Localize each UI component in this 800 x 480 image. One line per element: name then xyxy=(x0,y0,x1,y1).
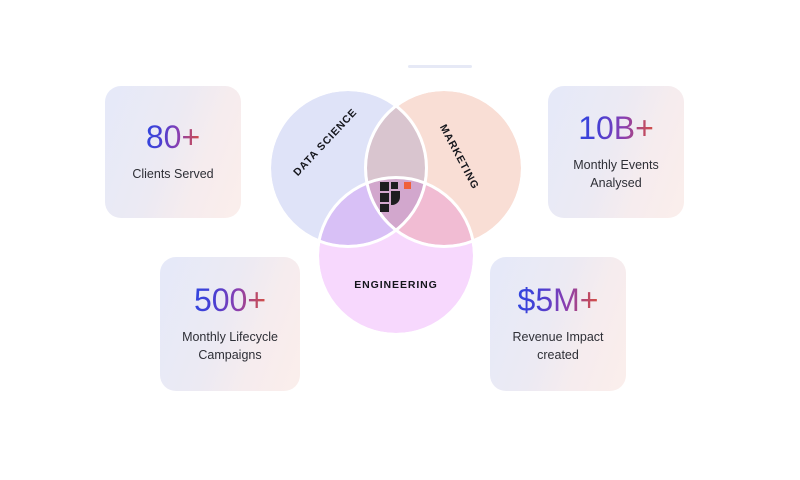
stat-label-events: Monthly Events Analysed xyxy=(573,156,658,192)
stat-value-campaigns: 500+ xyxy=(194,284,266,318)
stat-value-clients: 80+ xyxy=(146,121,200,155)
venn-diagram: DATA SCIENCE MARKETING ENGINEERING xyxy=(268,88,524,340)
stat-label-revenue: Revenue Impact created xyxy=(512,328,603,364)
stat-card-revenue[interactable]: $5M+ Revenue Impact created xyxy=(490,257,626,391)
stat-card-clients[interactable]: 80+ Clients Served xyxy=(105,86,241,218)
venn-label-engineering: ENGINEERING xyxy=(321,278,471,292)
stat-label-campaigns: Monthly Lifecycle Campaigns xyxy=(182,328,278,364)
stat-card-campaigns[interactable]: 500+ Monthly Lifecycle Campaigns xyxy=(160,257,300,391)
stat-value-revenue: $5M+ xyxy=(518,284,599,318)
top-divider-rule xyxy=(408,65,472,68)
infographic-stage: DATA SCIENCE MARKETING ENGINEERING 80+ C… xyxy=(0,0,800,480)
stat-value-events: 10B+ xyxy=(578,112,654,146)
stat-card-events[interactable]: 10B+ Monthly Events Analysed xyxy=(548,86,684,218)
stat-label-clients: Clients Served xyxy=(132,165,213,183)
brand-logo-icon xyxy=(378,180,414,214)
